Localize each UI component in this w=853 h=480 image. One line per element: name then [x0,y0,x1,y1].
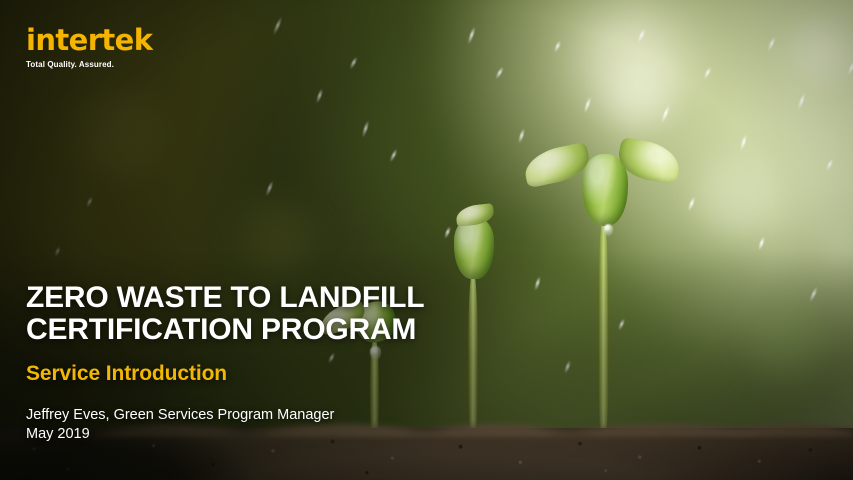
logo-wordmark: intertek [26,26,152,55]
seedling-seed-capsule [582,154,628,226]
presenter-block: Jeffrey Eves, Green Services Program Man… [26,406,586,444]
presentation-date: May 2019 [26,425,586,444]
presenter-name: Jeffrey Eves, Green Services Program Man… [26,406,586,425]
page-title-line-1: ZERO WASTE TO LANDFILL [26,282,586,314]
water-droplet [604,224,613,236]
presentation-slide: intertek Total Quality. Assured. ZERO WA… [0,0,853,480]
title-block: ZERO WASTE TO LANDFILL CERTIFICATION PRO… [26,282,586,444]
page-title: ZERO WASTE TO LANDFILL CERTIFICATION PRO… [26,282,586,347]
seedling-leaf-top [455,203,495,227]
intertek-logo: intertek Total Quality. Assured. [26,26,152,69]
seedling-stem [598,218,609,440]
logo-tagline: Total Quality. Assured. [26,60,152,69]
page-title-line-2: CERTIFICATION PROGRAM [26,314,586,346]
page-subtitle: Service Introduction [26,362,586,386]
